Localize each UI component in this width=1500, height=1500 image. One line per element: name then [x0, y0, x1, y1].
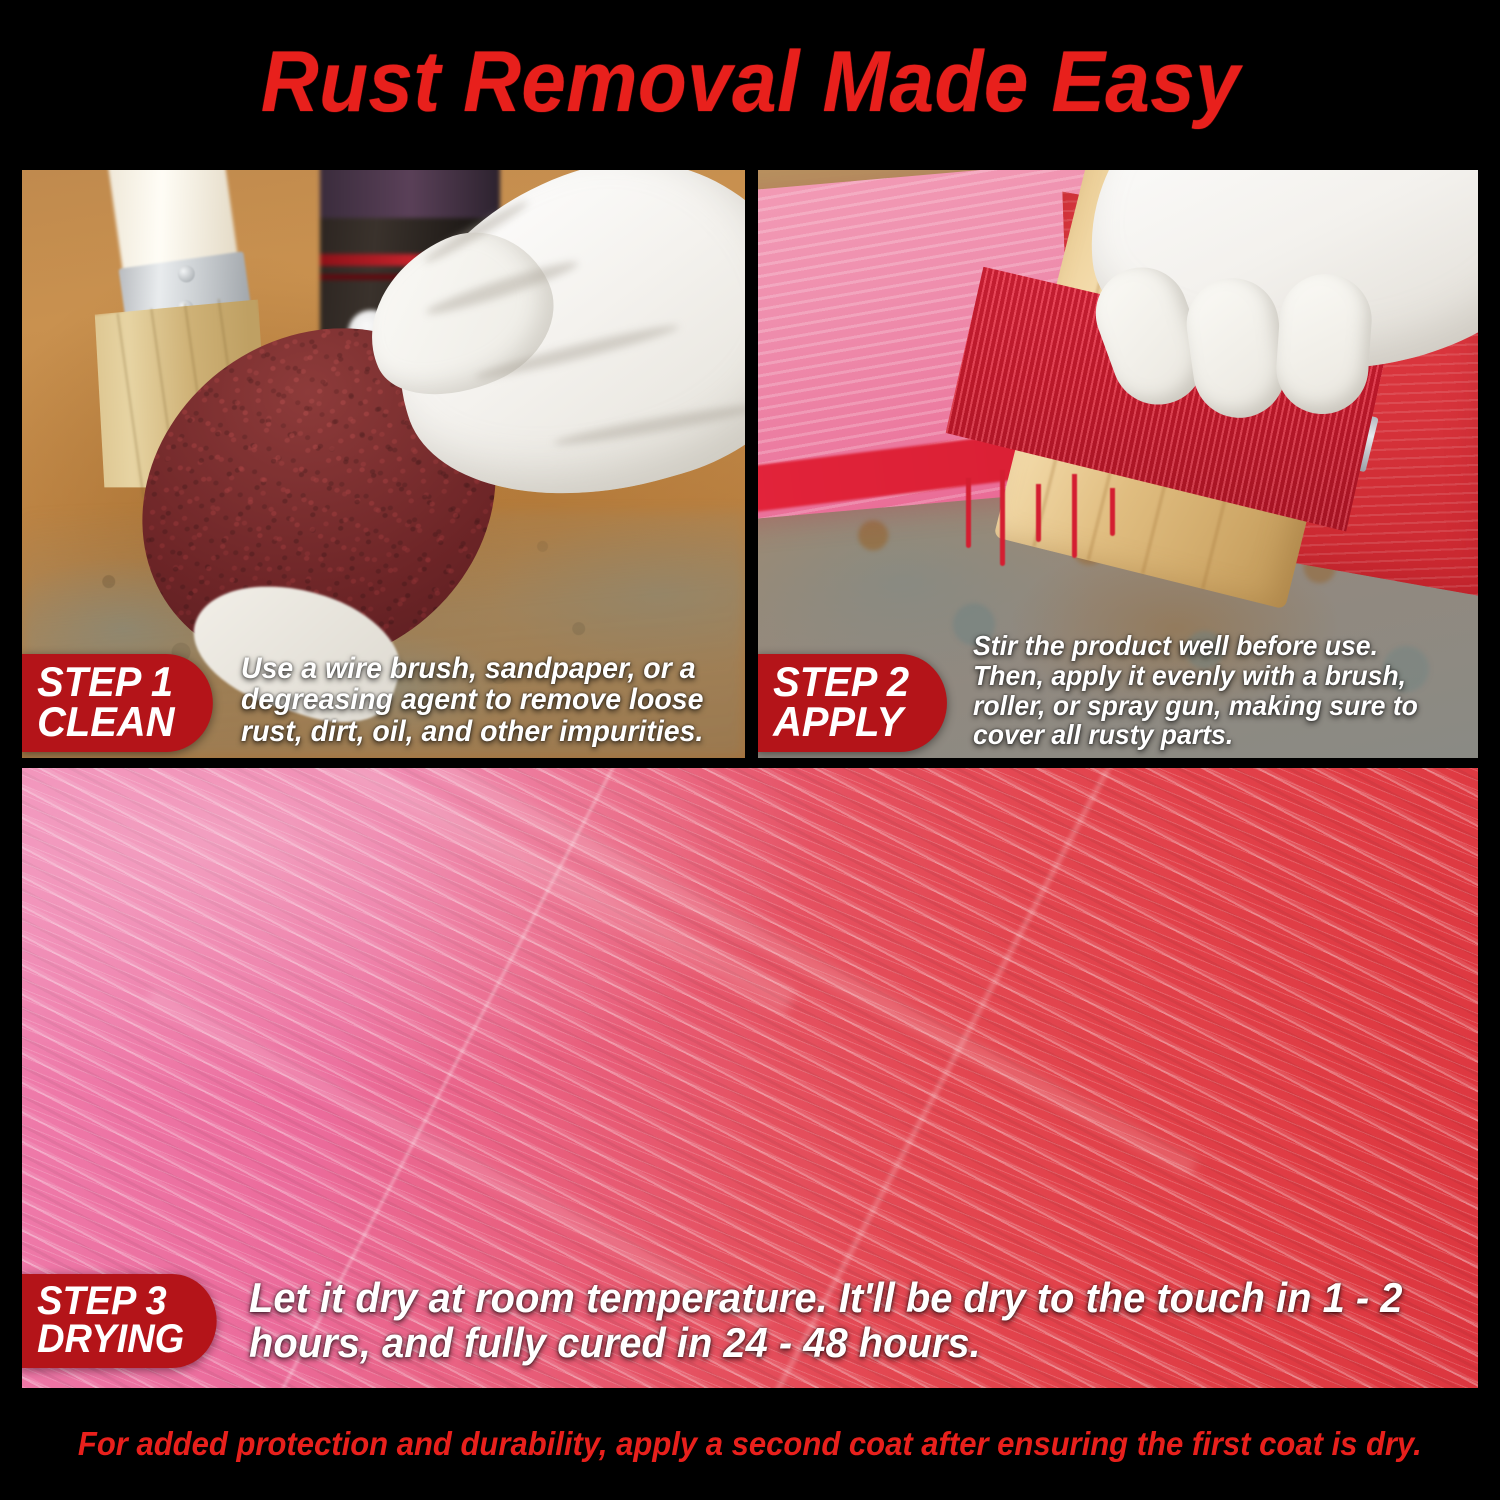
step-2-badge-line2: APPLY: [773, 702, 909, 742]
step-3-badge: STEP 3 DRYING: [22, 1274, 217, 1368]
step-3-badge-line1: STEP 3: [37, 1282, 184, 1320]
step-1-caption-row: STEP 1 CLEAN Use a wire brush, sandpaper…: [22, 653, 745, 752]
gloved-hand: [352, 170, 745, 560]
footer-bar: For added protection and durability, app…: [0, 1388, 1500, 1500]
header-bar: Rust Removal Made Easy: [0, 0, 1500, 165]
step-3-caption-row: STEP 3 DRYING Let it dry at room tempera…: [22, 1274, 1478, 1368]
step-2-photo-panel: STEP 2 APPLY Stir the product well befor…: [758, 170, 1478, 758]
step-3-badge-line2: DRYING: [37, 1320, 184, 1358]
surface-gloss-highlight: [22, 768, 896, 1140]
step-1-badge-line2: CLEAN: [37, 702, 174, 742]
step-2-caption: Stir the product well before use. Then, …: [973, 631, 1453, 750]
step-3-caption: Let it dry at room temperature. It'll be…: [249, 1276, 1417, 1365]
step-2-caption-row: STEP 2 APPLY Stir the product well befor…: [758, 631, 1478, 752]
step-1-photo-panel: STEP 1 CLEAN Use a wire brush, sandpaper…: [22, 170, 745, 758]
step-2-badge-line1: STEP 2: [773, 662, 909, 702]
paint-drips: [948, 470, 1248, 650]
page-title: Rust Removal Made Easy: [260, 33, 1239, 132]
step-1-badge: STEP 1 CLEAN: [22, 654, 213, 752]
step-2-badge: STEP 2 APPLY: [758, 654, 947, 752]
step-1-badge-line1: STEP 1: [37, 662, 174, 702]
footer-note: For added protection and durability, app…: [78, 1425, 1422, 1463]
step-1-caption: Use a wire brush, sandpaper, or a degrea…: [241, 653, 720, 748]
step-3-photo-panel: STEP 3 DRYING Let it dry at room tempera…: [22, 768, 1478, 1388]
